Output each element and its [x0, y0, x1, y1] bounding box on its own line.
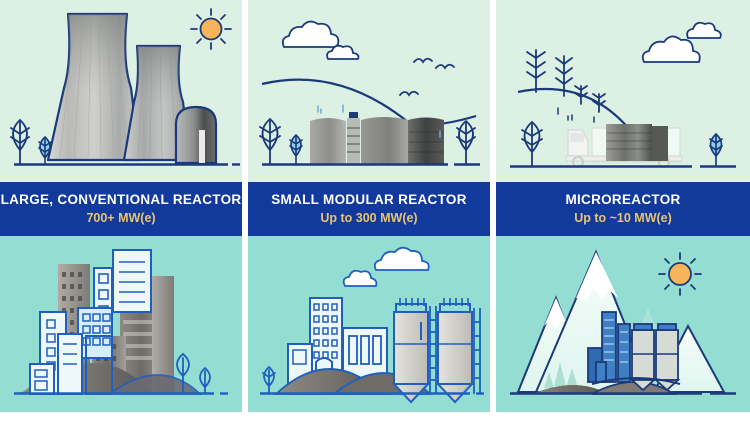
reactor-module-3 — [408, 118, 444, 166]
tree-left — [522, 122, 542, 166]
mountain-site-scene — [496, 236, 750, 412]
stair-tower — [347, 112, 360, 165]
city-skyline-scene — [0, 236, 242, 412]
truck-transport-illustration — [496, 0, 750, 182]
banner-title: LARGE, CONVENTIONAL REACTOR — [1, 192, 242, 209]
birds — [400, 59, 454, 95]
column-gap-1 — [242, 0, 248, 421]
cooling-towers-illustration — [0, 0, 242, 182]
modular-units-illustration — [248, 0, 490, 182]
reactor-module-1 — [310, 118, 346, 165]
banner-title: MICROREACTOR — [565, 192, 680, 209]
tree-right — [710, 134, 722, 166]
banner-subtitle: Up to 300 MW(e) — [320, 211, 417, 227]
tree-large — [11, 120, 29, 164]
column-large-conventional-reactor: LARGE, CONVENTIONAL REACTOR 700+ MW(e) — [0, 0, 242, 421]
column-microreactor: MICROREACTOR Up to ~10 MW(e) — [496, 0, 750, 421]
cloud-large — [283, 22, 339, 47]
bottom-white-strip — [0, 412, 750, 421]
cloud-large — [375, 248, 429, 270]
tree — [263, 367, 275, 393]
silo-2 — [438, 298, 472, 402]
cloud-small — [687, 23, 721, 38]
tree-large-left — [260, 119, 280, 164]
mountain-site-illustration — [496, 236, 750, 412]
truck-transport-scene — [496, 0, 750, 182]
large-cooling-tower — [48, 14, 140, 160]
modular-units-scene — [248, 0, 490, 182]
banner-subtitle: Up to ~10 MW(e) — [574, 211, 672, 227]
column-gap-2 — [490, 0, 496, 421]
sun-icon — [191, 9, 231, 49]
town-and-silos-scene — [248, 236, 490, 412]
microreactor-module — [606, 124, 668, 161]
banner-small-modular-reactor: SMALL MODULAR REACTOR Up to 300 MW(e) — [248, 182, 490, 236]
banner-subtitle: 700+ MW(e) — [86, 211, 155, 227]
city-skyline-illustration — [0, 236, 242, 412]
bare-trees-on-hill — [527, 50, 605, 112]
cloud-large — [643, 36, 700, 62]
banner-title: SMALL MODULAR REACTOR — [271, 192, 467, 209]
cooling-towers-scene — [0, 0, 242, 182]
town-and-silos-illustration — [248, 236, 490, 412]
infographic-root: LARGE, CONVENTIONAL REACTOR 700+ MW(e) — [0, 0, 750, 421]
reactor-module-2 — [361, 117, 408, 165]
flatbed-truck — [566, 124, 682, 167]
hill-arc — [262, 80, 408, 122]
tree-right — [457, 121, 475, 164]
containment-dome — [176, 107, 216, 163]
cloud-small — [344, 271, 377, 286]
silo-1 — [394, 298, 428, 402]
tree-small-left — [290, 135, 302, 164]
banner-large-conventional-reactor: LARGE, CONVENTIONAL REACTOR 700+ MW(e) — [0, 182, 242, 236]
banner-microreactor: MICROREACTOR Up to ~10 MW(e) — [496, 182, 750, 236]
column-small-modular-reactor: SMALL MODULAR REACTOR Up to 300 MW(e) — [248, 0, 490, 421]
sun-icon — [659, 253, 701, 295]
